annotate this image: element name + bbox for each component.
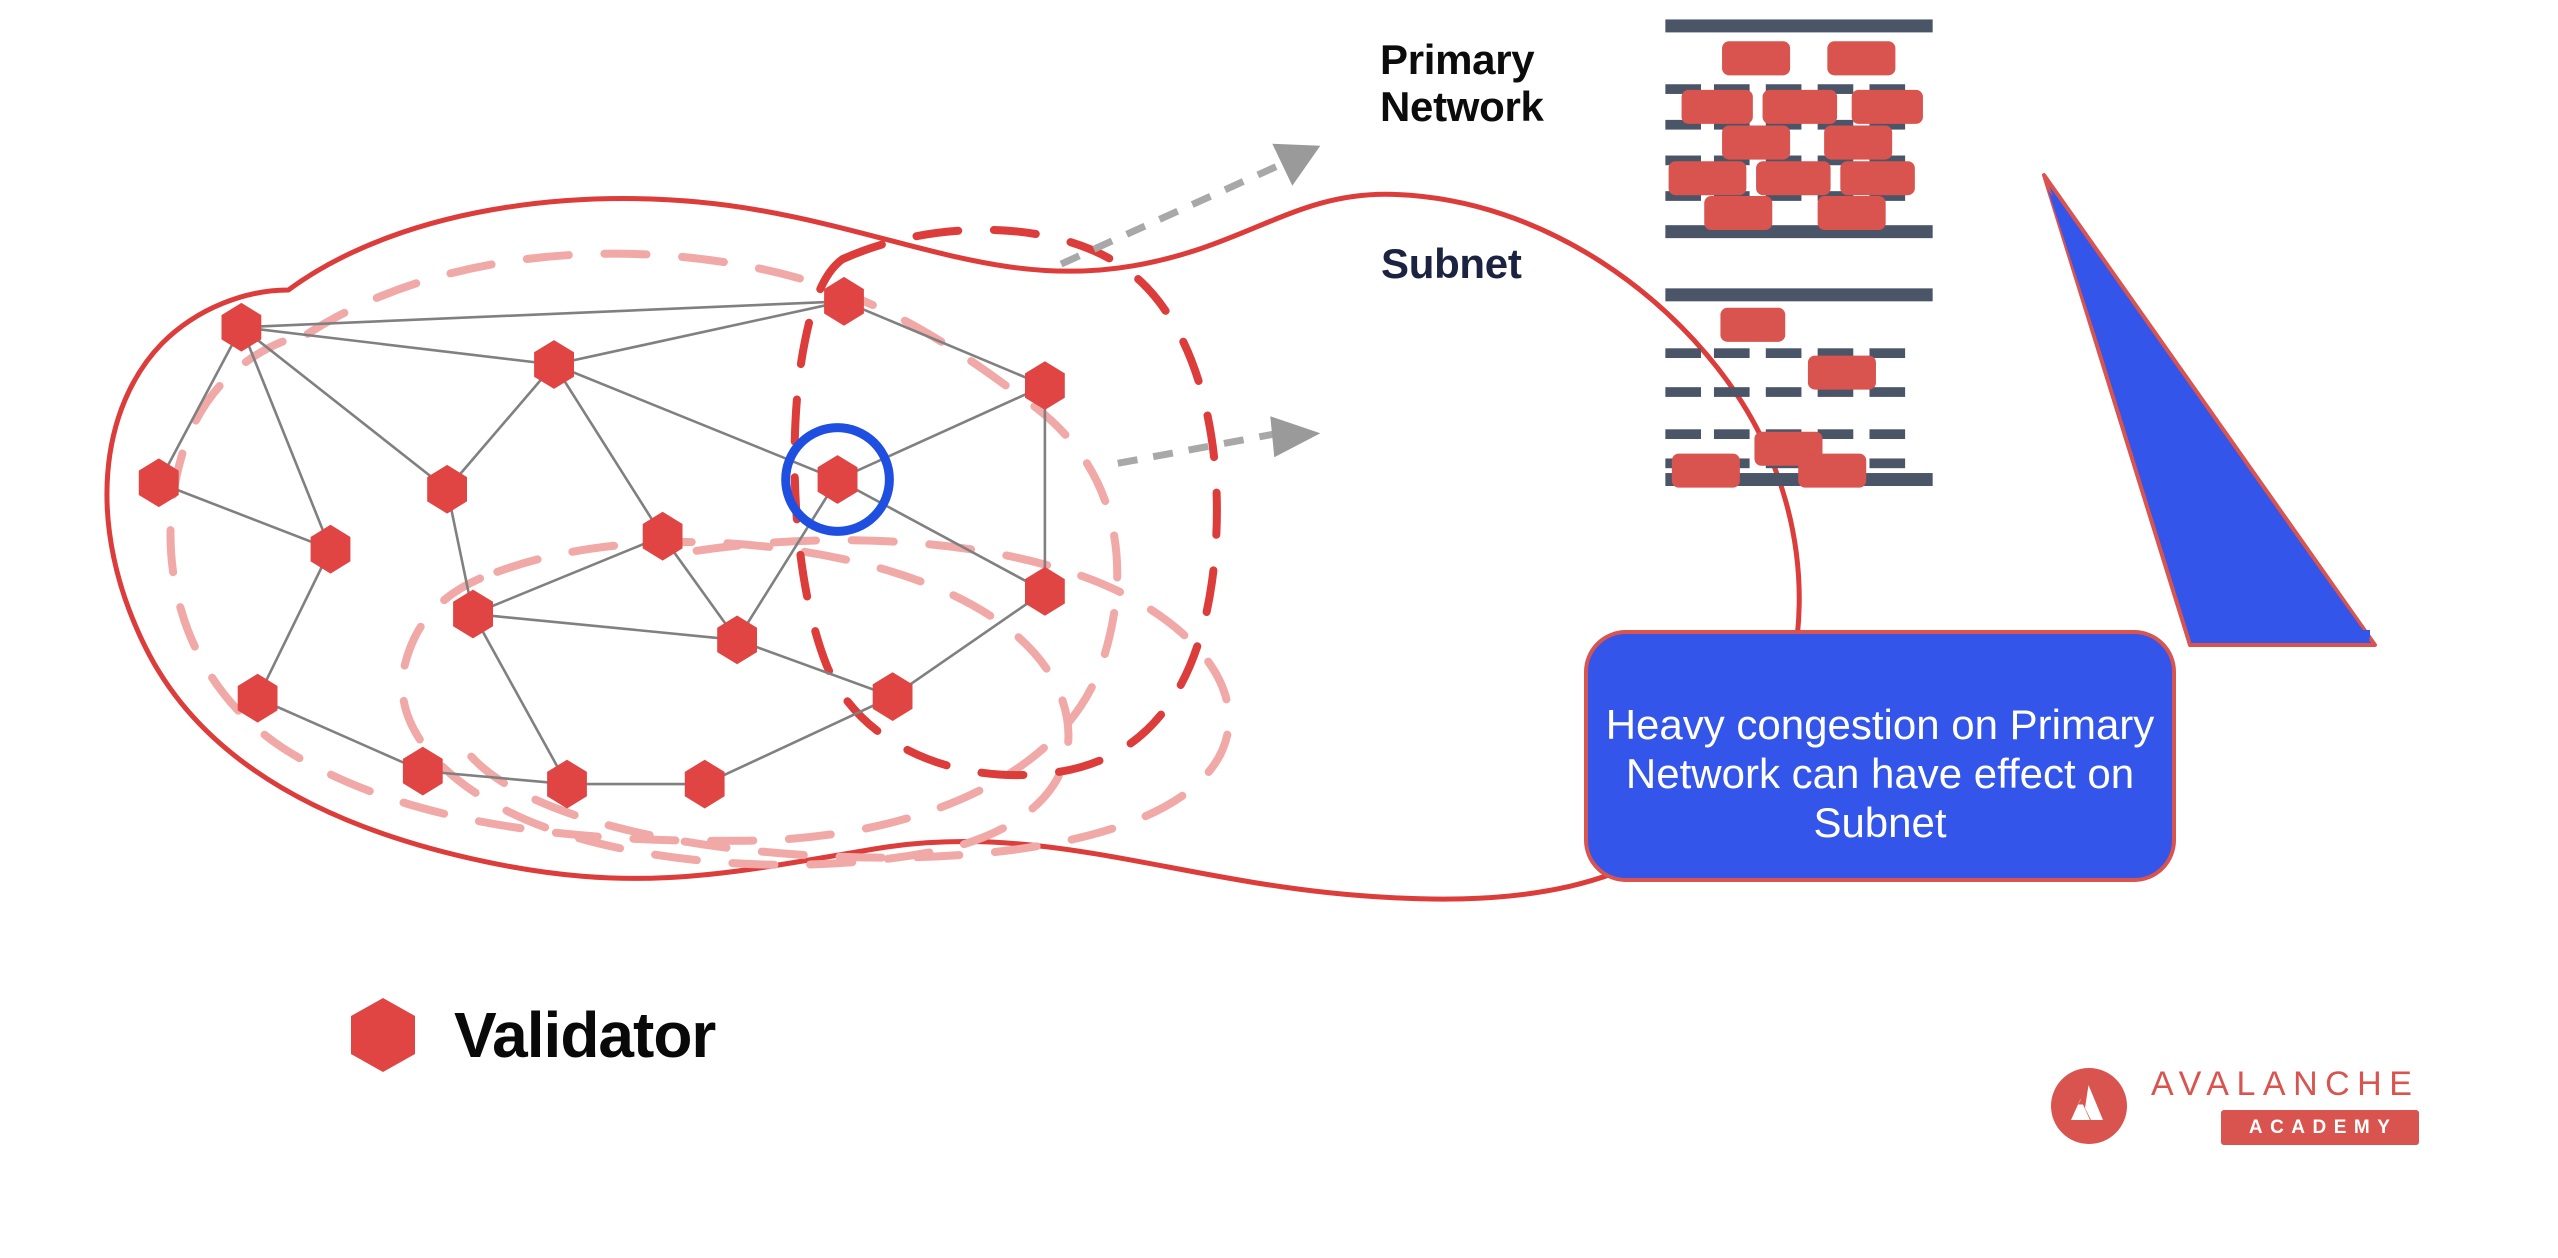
diagram-canvas: Primary Network Subnet Validator Heavy c… (0, 0, 2558, 1258)
logo-avalanche-text: AVALANCHE (2143, 1067, 2419, 1101)
logo-wordmark: AVALANCHE ACADEMY (2143, 1067, 2419, 1145)
logo-academy-badge: ACADEMY (2221, 1110, 2420, 1145)
avalanche-academy-logo: AVALANCHE ACADEMY (2051, 1067, 2419, 1145)
avalanche-triangle-icon (2051, 1068, 2127, 1144)
callout-tail-seam (2192, 630, 2370, 638)
logo-academy-text: ACADEMY (2249, 1118, 2398, 1137)
callout-message: Heavy congestion on Primary Network can … (1600, 700, 2160, 847)
